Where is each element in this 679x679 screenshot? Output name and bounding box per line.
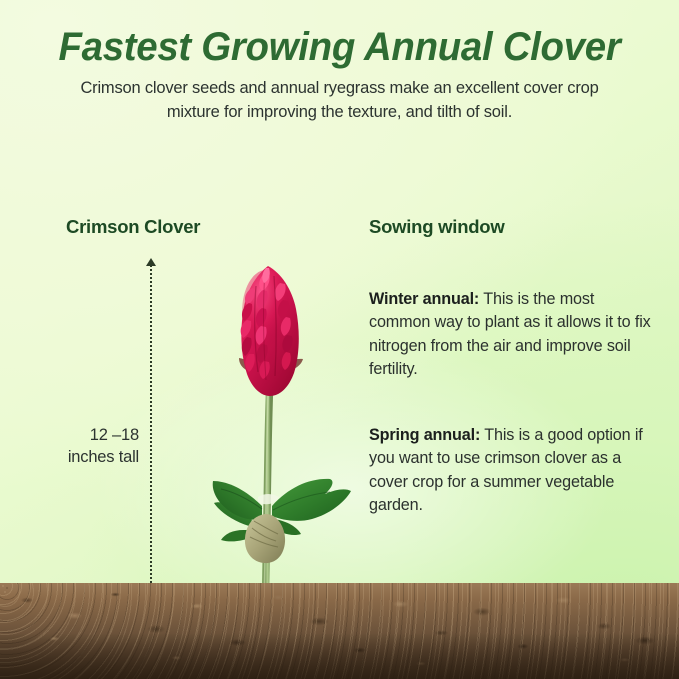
spring-annual-term: Spring annual: — [369, 426, 480, 444]
header: Fastest Growing Annual Clover Crimson cl… — [0, 26, 679, 124]
soil-top-edge — [0, 583, 679, 590]
page-subtitle: Crimson clover seeds and annual ryegrass… — [0, 77, 679, 124]
right-column: Sowing window Winter annual: This is the… — [369, 216, 654, 518]
soil-band — [0, 583, 679, 679]
dotted-measure-line — [150, 265, 152, 603]
page-title: Fastest Growing Annual Clover — [14, 26, 666, 68]
soil-shadow — [0, 633, 679, 679]
spring-annual-paragraph: Spring annual: This is a good option if … — [369, 424, 654, 518]
winter-annual-paragraph: Winter annual: This is the most common w… — [369, 288, 654, 382]
crimson-clover-heading: Crimson Clover — [66, 216, 316, 238]
sowing-window-heading: Sowing window — [369, 216, 654, 238]
height-measurement: 12 –18 inches tall — [150, 258, 152, 603]
measurement-label: 12 –18 inches tall — [43, 424, 139, 468]
winter-annual-term: Winter annual: — [369, 290, 479, 308]
left-column: Crimson Clover — [66, 216, 316, 238]
measurement-value: 12 –18 — [43, 424, 139, 446]
measurement-unit: inches tall — [43, 446, 139, 468]
